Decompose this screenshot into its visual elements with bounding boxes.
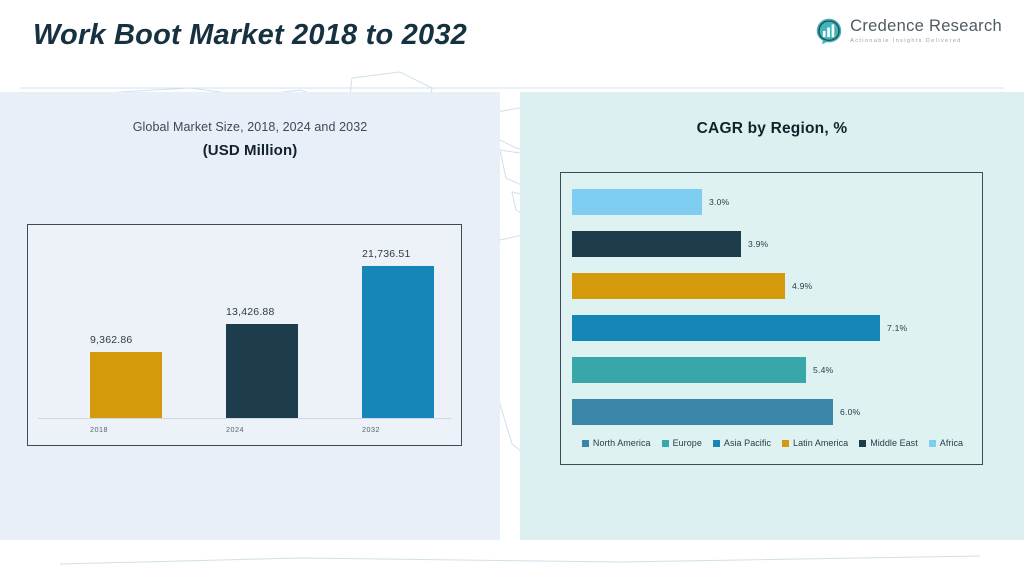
logo-tagline: Actionable Insights Delivered bbox=[850, 38, 1002, 44]
horizontal-bar-row[interactable]: 3.9% bbox=[572, 231, 768, 257]
bar-value-label: 3.0% bbox=[709, 197, 729, 207]
legend-swatch-icon bbox=[929, 440, 936, 447]
logo-text-block: Credence Research Actionable Insights De… bbox=[850, 18, 1002, 44]
horizontal-bar[interactable] bbox=[572, 315, 880, 341]
legend-item[interactable]: Africa bbox=[929, 438, 963, 448]
brand-logo[interactable]: Credence Research Actionable Insights De… bbox=[815, 17, 1002, 45]
cagr-legend: North AmericaEuropeAsia PacificLatin Ame… bbox=[561, 438, 984, 448]
horizontal-bar[interactable] bbox=[572, 189, 702, 215]
vertical-bar[interactable]: 13,426.882024 bbox=[226, 324, 298, 418]
cagr-panel: CAGR by Region, % 3.0%3.9%4.9%7.1%5.4%6.… bbox=[520, 92, 1024, 540]
bar-value-label: 6.0% bbox=[840, 407, 860, 417]
legend-item[interactable]: Europe bbox=[662, 438, 702, 448]
page-header: Work Boot Market 2018 to 2032 Credence R… bbox=[0, 0, 1024, 92]
legend-label: Africa bbox=[940, 438, 963, 448]
legend-label: North America bbox=[593, 438, 651, 448]
vertical-bar-group[interactable]: 13,426.882024 bbox=[226, 324, 298, 418]
horizontal-bar-row[interactable]: 3.0% bbox=[572, 189, 729, 215]
legend-item[interactable]: North America bbox=[582, 438, 651, 448]
horizontal-bar[interactable] bbox=[572, 231, 741, 257]
horizontal-bar[interactable] bbox=[572, 399, 833, 425]
horizontal-bar[interactable] bbox=[572, 273, 785, 299]
market-size-chart: 9,362.86201813,426.88202421,736.512032 bbox=[27, 224, 462, 446]
legend-label: Asia Pacific bbox=[724, 438, 771, 448]
cagr-title: CAGR by Region, % bbox=[520, 120, 1024, 138]
bar-value-label: 4.9% bbox=[792, 281, 812, 291]
legend-swatch-icon bbox=[582, 440, 589, 447]
bar-value-label: 5.4% bbox=[813, 365, 833, 375]
bar-value-label: 7.1% bbox=[887, 323, 907, 333]
market-size-unit: (USD Million) bbox=[0, 142, 500, 159]
legend-label: Europe bbox=[673, 438, 702, 448]
market-size-subtitle: Global Market Size, 2018, 2024 and 2032 bbox=[0, 120, 500, 134]
legend-label: Latin America bbox=[793, 438, 848, 448]
vertical-bar[interactable]: 21,736.512032 bbox=[362, 266, 434, 418]
legend-label: Middle East bbox=[870, 438, 918, 448]
legend-swatch-icon bbox=[713, 440, 720, 447]
vertical-bar-group[interactable]: 21,736.512032 bbox=[362, 266, 434, 418]
x-axis-line bbox=[38, 418, 451, 419]
vertical-bar[interactable]: 9,362.862018 bbox=[90, 352, 162, 418]
horizontal-bar-row[interactable]: 7.1% bbox=[572, 315, 907, 341]
market-size-plot: 9,362.86201813,426.88202421,736.512032 bbox=[28, 225, 461, 445]
legend-item[interactable]: Latin America bbox=[782, 438, 848, 448]
logo-company-name: Credence Research bbox=[850, 18, 1002, 35]
horizontal-bar-row[interactable]: 4.9% bbox=[572, 273, 812, 299]
vertical-bar-group[interactable]: 9,362.862018 bbox=[90, 352, 162, 418]
page-title: Work Boot Market 2018 to 2032 bbox=[33, 19, 467, 52]
horizontal-bar-row[interactable]: 6.0% bbox=[572, 399, 860, 425]
market-size-panel: Global Market Size, 2018, 2024 and 2032 … bbox=[0, 92, 500, 540]
legend-swatch-icon bbox=[782, 440, 789, 447]
bar-value-label: 3.9% bbox=[748, 239, 768, 249]
legend-item[interactable]: Asia Pacific bbox=[713, 438, 771, 448]
infographic-root: Work Boot Market 2018 to 2032 Credence R… bbox=[0, 0, 1024, 576]
bar-category-label: 2018 bbox=[90, 425, 108, 434]
bar-category-label: 2024 bbox=[226, 425, 244, 434]
bar-value-label: 9,362.86 bbox=[90, 334, 132, 346]
legend-item[interactable]: Middle East bbox=[859, 438, 918, 448]
horizontal-bar-row[interactable]: 5.4% bbox=[572, 357, 833, 383]
cagr-chart: 3.0%3.9%4.9%7.1%5.4%6.0% North AmericaEu… bbox=[560, 172, 983, 465]
bar-value-label: 21,736.51 bbox=[362, 248, 411, 260]
legend-swatch-icon bbox=[859, 440, 866, 447]
legend-swatch-icon bbox=[662, 440, 669, 447]
bar-chart-bubble-icon bbox=[815, 17, 843, 45]
horizontal-bar[interactable] bbox=[572, 357, 806, 383]
bar-value-label: 13,426.88 bbox=[226, 306, 275, 318]
bar-category-label: 2032 bbox=[362, 425, 380, 434]
